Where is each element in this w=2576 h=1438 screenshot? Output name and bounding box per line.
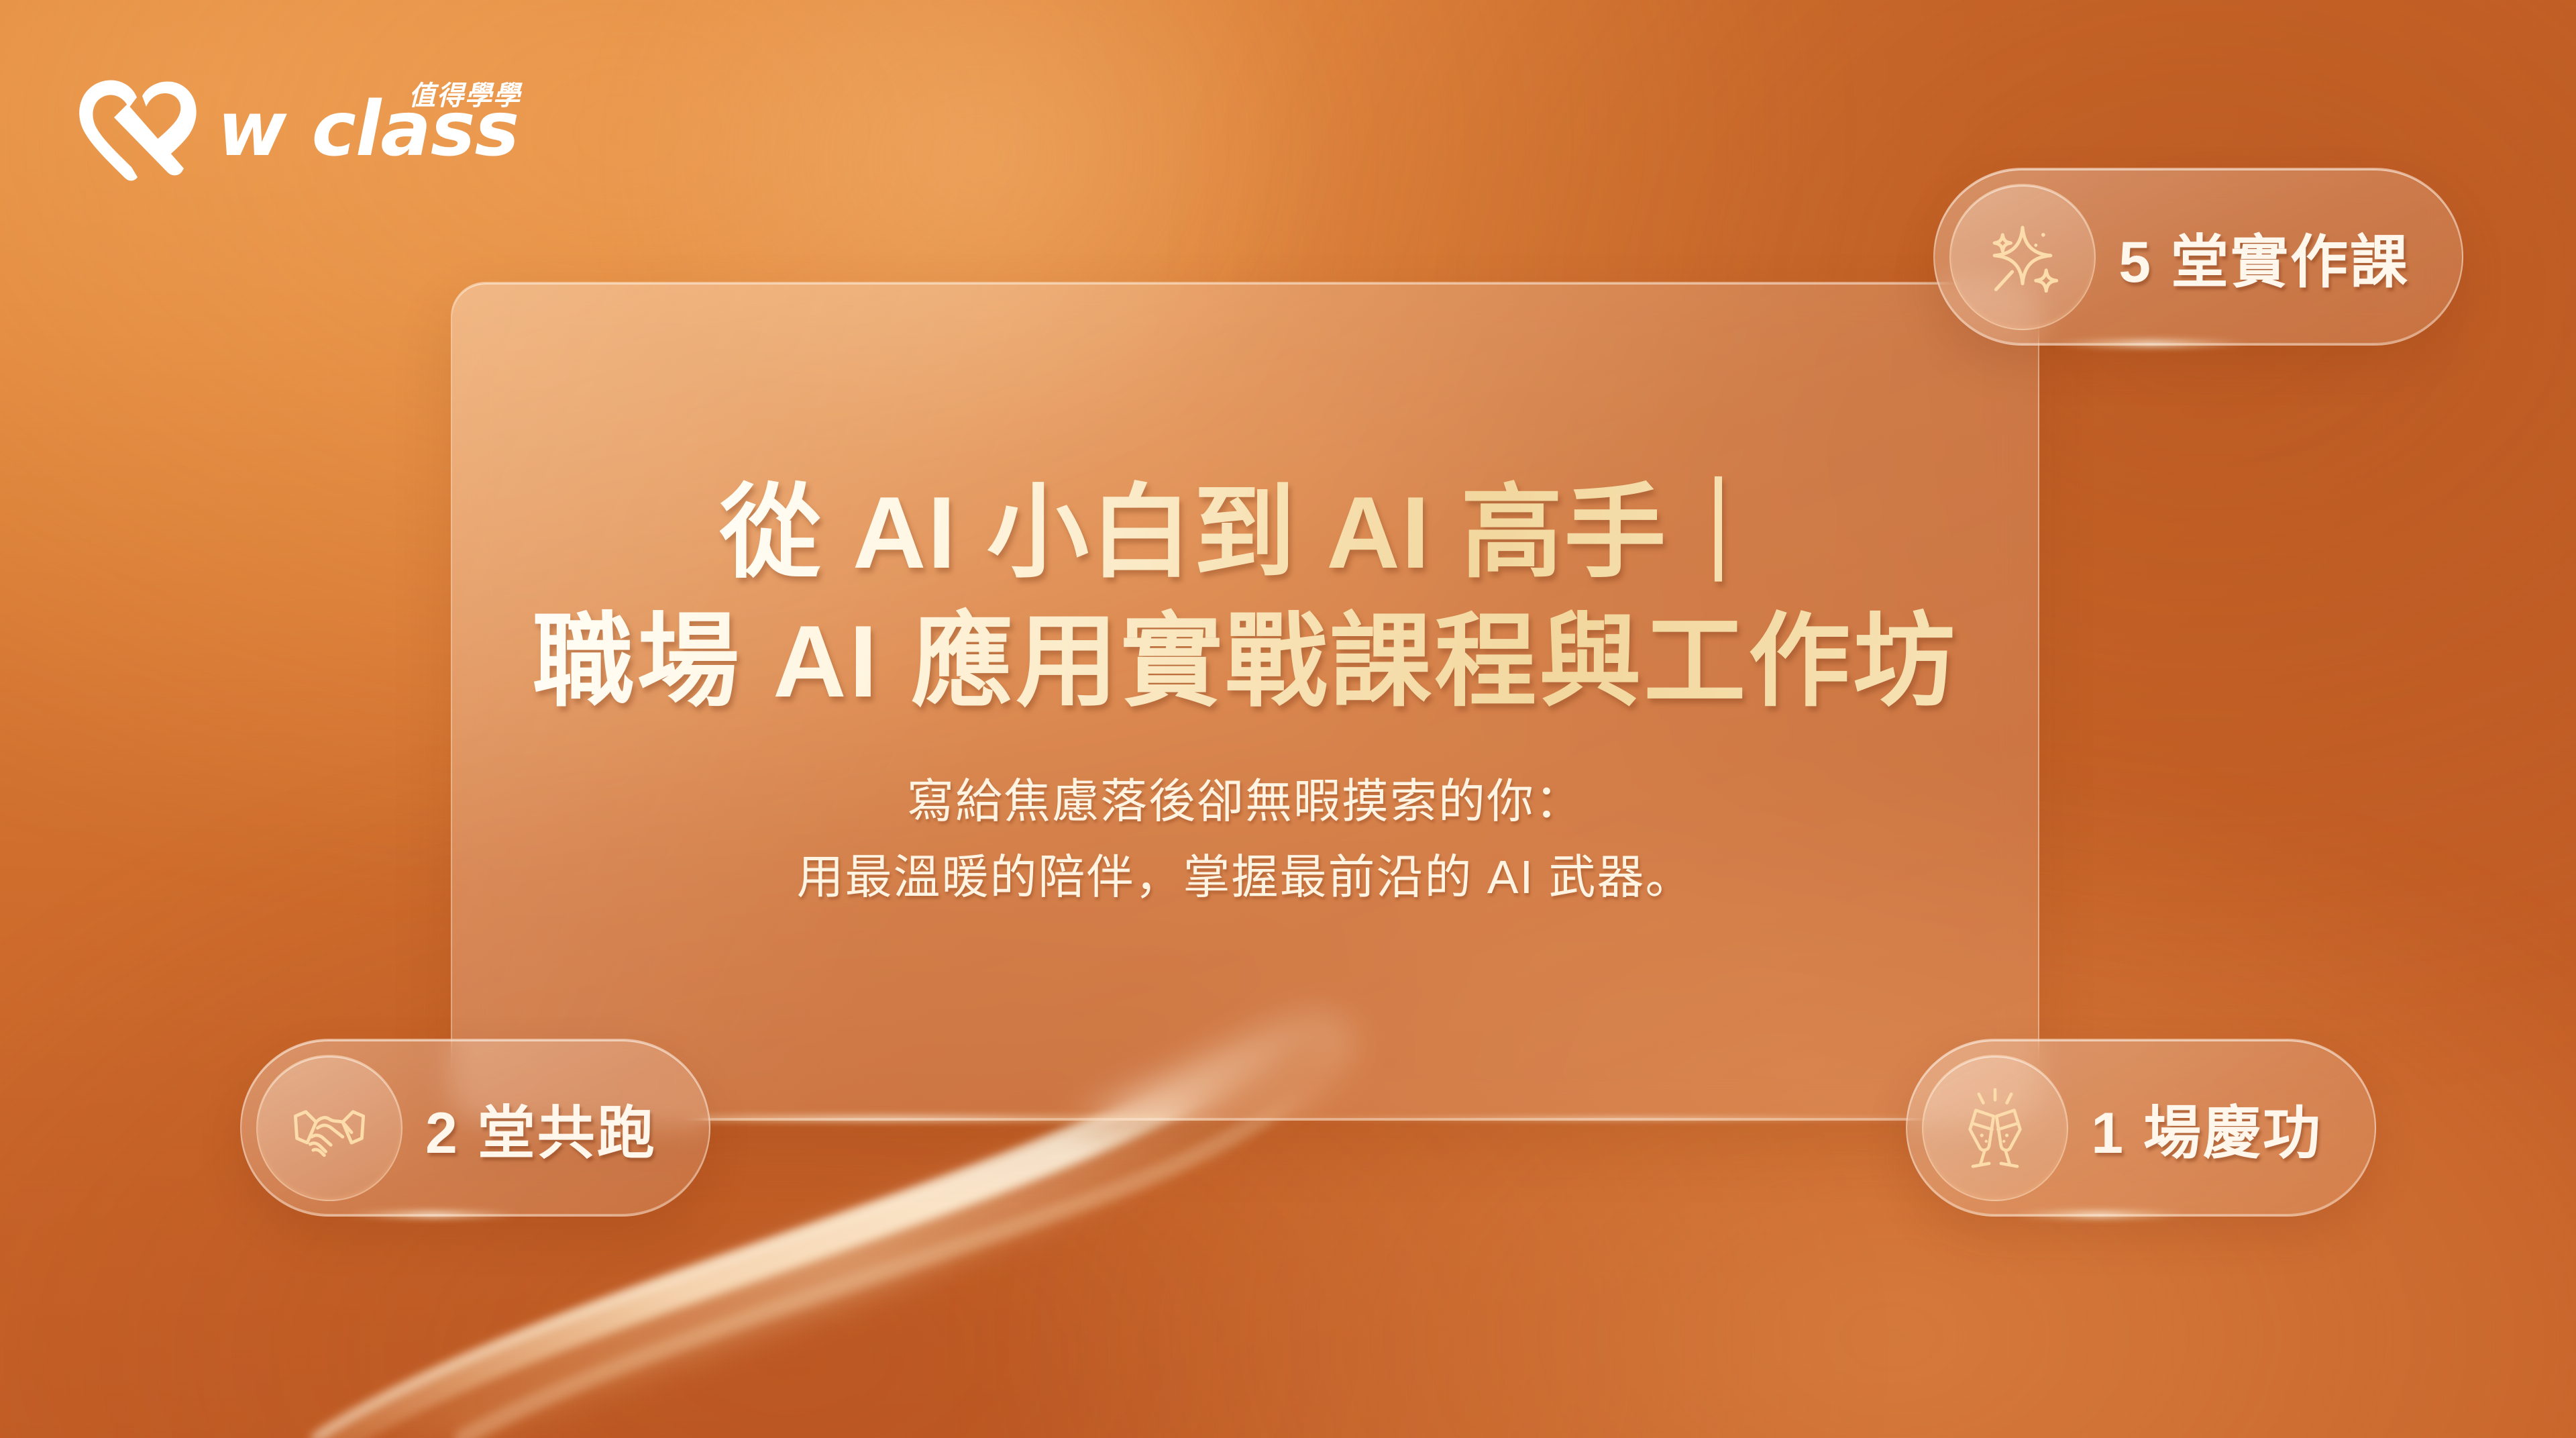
heart-w-logo-icon	[72, 73, 200, 186]
cheers-icon	[1922, 1055, 2068, 1201]
badge-label: 5 堂實作課	[2118, 215, 2410, 299]
badge-edge-spark	[2051, 338, 2251, 349]
hero-title-line-1: 從 AI 小白到 AI 高手｜	[720, 473, 1771, 593]
banner-canvas: 值得學學 w class 從 AI 小白到 AI 高手｜ 職場 AI 應用實戰課…	[0, 0, 2576, 1438]
badge-label: 2 堂共跑	[425, 1086, 657, 1170]
badge-label: 1 場慶功	[2091, 1086, 2322, 1170]
handshake-icon	[256, 1055, 402, 1201]
hero-title-line-2: 職場 AI 應用實戰課程與工作坊	[533, 602, 1957, 722]
brand-logo[interactable]: 值得學學 w class	[72, 72, 519, 187]
hero-subtitle: 寫給焦慮落後卻無暇摸索的你： 用最溫暖的陪伴，掌握最前沿的 AI 武器。	[796, 764, 1693, 916]
hero-subtitle-line-1: 寫給焦慮落後卻無暇摸索的你：	[796, 764, 1693, 839]
hero-content: 從 AI 小白到 AI 高手｜ 職場 AI 應用實戰課程與工作坊 寫給焦慮落後卻…	[452, 283, 2038, 1119]
hero-glass-card: 從 AI 小白到 AI 高手｜ 職場 AI 應用實戰課程與工作坊 寫給焦慮落後卻…	[451, 282, 2039, 1121]
hero-subtitle-line-2: 用最溫暖的陪伴，掌握最前沿的 AI 武器。	[796, 839, 1693, 915]
badge-celebration[interactable]: 1 場慶功	[1906, 1039, 2376, 1217]
logo-tagline: 值得學學	[409, 74, 521, 113]
logo-wordmark-group: 值得學學 w class	[217, 79, 519, 180]
badge-edge-spark	[344, 1209, 522, 1220]
badge-practice-sessions[interactable]: 5 堂實作課	[1933, 168, 2463, 346]
sparkles-icon	[1949, 184, 2096, 330]
badge-edge-spark	[2010, 1209, 2188, 1220]
badge-co-run-sessions[interactable]: 2 堂共跑	[240, 1039, 710, 1217]
